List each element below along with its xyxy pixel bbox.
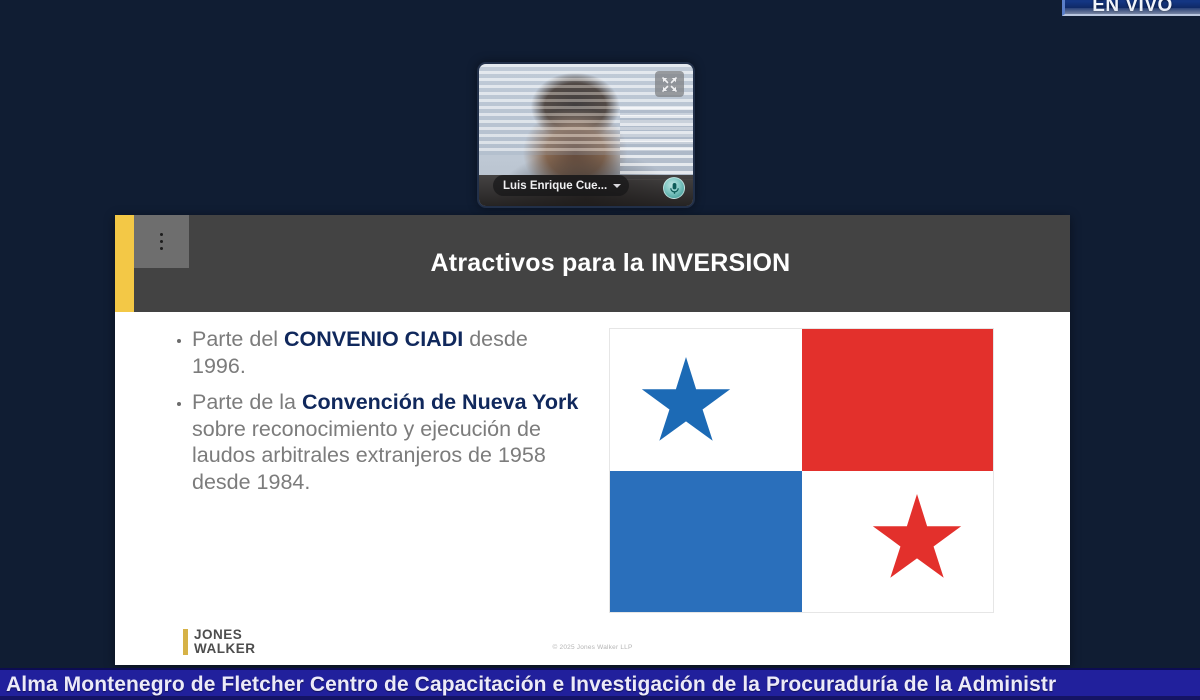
- slide-accent-bar: [115, 215, 134, 312]
- slide-menu-button[interactable]: [134, 215, 189, 268]
- mic-status-indicator[interactable]: [663, 177, 685, 199]
- bullet-segment-bold: Convención de Nueva York: [302, 390, 578, 414]
- participant-video-tile[interactable]: Luis Enrique Cue...: [477, 62, 695, 208]
- list-item: Parte del CONVENIO CIADI desde 1996.: [177, 326, 579, 379]
- live-badge: EN VIVO: [1062, 0, 1200, 16]
- copyright-text: © 2025 Jones Walker LLP: [115, 644, 1070, 651]
- bullet-dot-icon: [177, 402, 181, 406]
- ticker-text: Alma Montenegro de Fletcher Centro de Ca…: [0, 673, 1056, 697]
- expand-button[interactable]: [655, 71, 684, 97]
- bullet-segment: sobre reconocimiento y ejecución de laud…: [192, 417, 546, 494]
- list-item: Parte de la Convención de Nueva York sob…: [177, 389, 579, 495]
- red-star-icon: [871, 494, 963, 586]
- bullet-dot-icon: [177, 339, 181, 343]
- microphone-icon: [669, 182, 680, 195]
- ticker-shadow: [0, 696, 1200, 700]
- live-badge-glow: [1065, 8, 1200, 14]
- flag-quadrant-white-bottom-right: [802, 471, 994, 613]
- flag-quadrant-blue-bottom-left: [610, 471, 802, 613]
- bullet-segment: Parte del: [192, 327, 284, 351]
- slide-body: Parte del CONVENIO CIADI desde 1996. Par…: [115, 312, 1070, 665]
- chevron-down-icon[interactable]: [613, 184, 621, 188]
- participant-name-pill[interactable]: Luis Enrique Cue...: [493, 175, 629, 196]
- slide-footer: JONES WALKER © 2025 Jones Walker LLP: [115, 613, 1070, 665]
- bullet-segment-bold: CONVENIO CIADI: [284, 327, 463, 351]
- flag-quadrant-white-top-left: [610, 329, 802, 471]
- panama-flag-image: [609, 328, 994, 613]
- lower-third-ticker: Alma Montenegro de Fletcher Centro de Ca…: [0, 668, 1200, 700]
- vertical-dots-icon: [160, 233, 163, 250]
- presentation-slide[interactable]: Atractivos para la INVERSION Parte del C…: [115, 215, 1070, 665]
- blue-star-icon: [640, 357, 732, 449]
- window-blinds-right: [620, 107, 693, 181]
- participant-name-label: Luis Enrique Cue...: [503, 180, 607, 192]
- bullet-text: Parte del CONVENIO CIADI desde 1996.: [192, 326, 579, 379]
- bullet-text: Parte de la Convención de Nueva York sob…: [192, 389, 579, 495]
- stream-stage: EN VIVO Luis En: [0, 0, 1200, 700]
- flag-quadrant-red-top-right: [802, 329, 994, 471]
- bullet-segment: Parte de la: [192, 390, 302, 414]
- slide-title: Atractivos para la INVERSION: [115, 249, 1070, 278]
- expand-arrows-icon: [661, 76, 678, 93]
- slide-header: Atractivos para la INVERSION: [115, 215, 1070, 312]
